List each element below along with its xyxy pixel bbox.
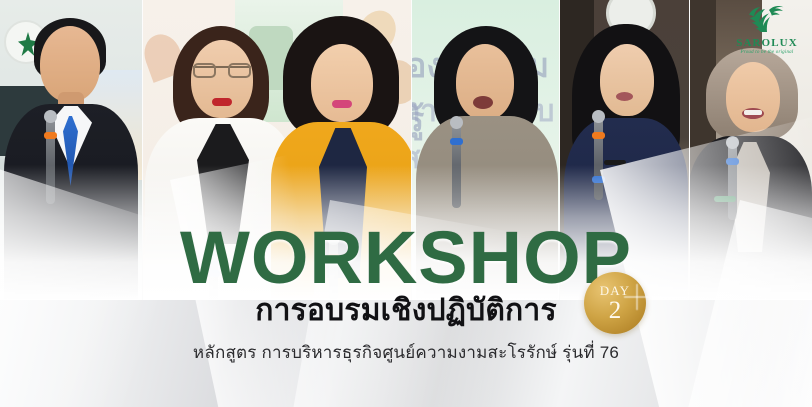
microphone-icon	[452, 124, 461, 208]
thai-subtitle: หลักสูตร การบริหารธุรกิจศูนย์ความงามสะโร…	[0, 339, 812, 366]
headline-block: WORKSHOP การอบรมเชิงปฏิบัติการ หลักสูตร …	[0, 224, 812, 366]
day-badge-number: 2	[609, 298, 622, 323]
microphone-icon	[46, 118, 55, 204]
logo-wordmark: SAROLUX	[731, 38, 803, 49]
day-badge: DAY 2	[584, 272, 646, 334]
workshop-banner: องค์ความรู้ การรับ สนับสนุนไ	[0, 0, 812, 407]
microphone-icon	[728, 144, 737, 220]
person-mouth	[616, 92, 633, 101]
leaf-plant-icon	[731, 6, 803, 37]
person-head	[726, 62, 780, 132]
person-mouth	[473, 96, 493, 109]
microphone-icon	[594, 118, 603, 200]
person-head	[600, 44, 654, 116]
day-badge-label: DAY	[600, 284, 631, 297]
wrist-band	[604, 160, 626, 165]
person-b-lips	[332, 100, 352, 108]
person-a-lips	[212, 98, 232, 106]
bracelet	[714, 196, 736, 202]
brand-logo: SAROLUX Proud to be the original	[731, 6, 803, 55]
eyeglasses-icon	[193, 66, 251, 80]
logo-tagline: Proud to be the original	[731, 50, 803, 55]
person-b-head	[311, 44, 373, 122]
workshop-title: WORKSHOP	[0, 224, 812, 292]
person-teeth	[744, 110, 762, 115]
thai-headline: การอบรมเชิงปฏิบัติการ	[0, 294, 812, 329]
person-head	[40, 26, 100, 102]
